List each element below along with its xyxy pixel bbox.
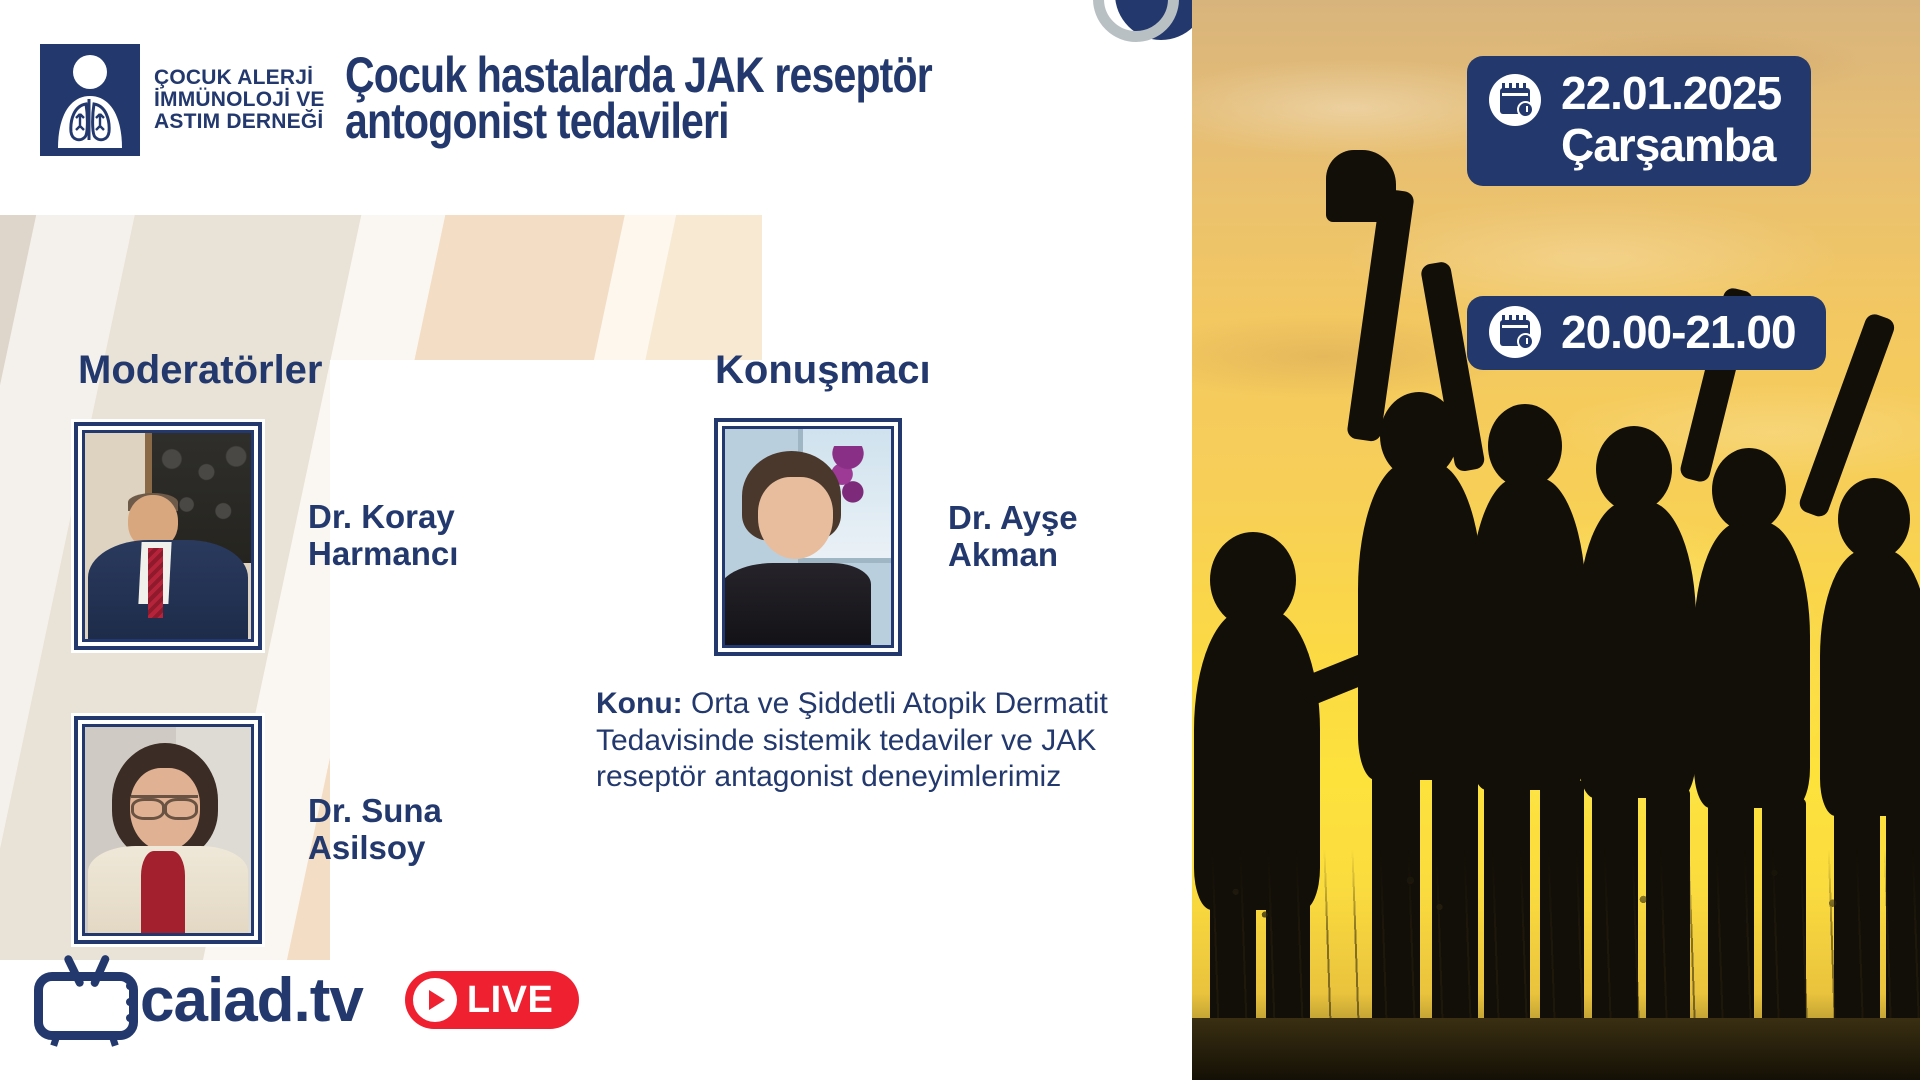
- foreground-weeds: [1192, 850, 1920, 1040]
- live-badge[interactable]: LIVE: [405, 971, 579, 1029]
- webinar-poster: ÇOCUK ALERJİ İMMÜNOLOJİ VE ASTIM DERNEĞİ…: [0, 0, 1920, 1080]
- org-line-2: İMMÜNOLOJİ VE: [154, 89, 325, 111]
- ground-silhouette: [1192, 1018, 1920, 1080]
- org-line-3: ASTIM DERNEĞİ: [154, 111, 325, 133]
- topic-text: Konu: Orta ve Şiddetli Atopik Dermatit T…: [596, 686, 1196, 796]
- name-line-1: Dr. Koray: [308, 499, 458, 536]
- title-line-1: Çocuk hastalarda JAK reseptör: [345, 52, 1026, 98]
- organization-name: ÇOCUK ALERJİ İMMÜNOLOJİ VE ASTIM DERNEĞİ: [154, 67, 325, 133]
- time-badge: 20.00-21.00: [1467, 296, 1826, 370]
- speaker-heading: Konuşmacı: [715, 348, 931, 393]
- live-label: LIVE: [467, 979, 553, 1022]
- moderator-name: Dr. Suna Asilsoy: [308, 793, 442, 867]
- television-icon: [34, 954, 146, 1046]
- portrait-suna-asilsoy: [82, 724, 254, 936]
- event-date: 22.01.2025: [1561, 70, 1781, 116]
- speaker-name: Dr. Ayşe Akman: [948, 500, 1078, 574]
- name-line-2: Harmancı: [308, 536, 458, 573]
- organization-logo: ÇOCUK ALERJİ İMMÜNOLOJİ VE ASTIM DERNEĞİ: [40, 44, 325, 156]
- topic-label: Konu:: [596, 687, 683, 720]
- site-name[interactable]: caiad.tv: [140, 965, 363, 1036]
- moderator-card: Dr. Koray Harmancı: [74, 422, 458, 650]
- photo-frame: [74, 716, 262, 944]
- calendar-clock-icon: [1489, 74, 1541, 126]
- title-line-2: antogonist tedavileri: [345, 98, 1026, 144]
- moderators-heading: Moderatörler: [78, 348, 323, 393]
- photo-frame: [714, 418, 902, 656]
- portrait-ayse-akman: [722, 426, 894, 648]
- moderator-card: Dr. Suna Asilsoy: [74, 716, 442, 944]
- sunset-photo-panel: 22.01.2025 Çarşamba 20.00-21.00: [1192, 0, 1920, 1080]
- moderator-name: Dr. Koray Harmancı: [308, 499, 458, 573]
- footer-brand: caiad.tv LIVE: [34, 954, 579, 1046]
- date-badge: 22.01.2025 Çarşamba: [1467, 56, 1811, 186]
- name-line-2: Akman: [948, 537, 1078, 574]
- event-weekday: Çarşamba: [1561, 122, 1781, 168]
- calendar-clock-icon: [1489, 306, 1541, 358]
- portrait-koray-harmanci: [82, 430, 254, 642]
- name-line-2: Asilsoy: [308, 830, 442, 867]
- play-circle-icon: [413, 978, 457, 1022]
- name-line-1: Dr. Ayşe: [948, 500, 1078, 537]
- name-line-1: Dr. Suna: [308, 793, 442, 830]
- photo-frame: [74, 422, 262, 650]
- lungs-person-icon: [40, 44, 140, 156]
- page-title: Çocuk hastalarda JAK reseptör antogonist…: [345, 52, 1026, 144]
- event-time: 20.00-21.00: [1561, 309, 1796, 355]
- org-line-1: ÇOCUK ALERJİ: [154, 67, 325, 89]
- speaker-card: Dr. Ayşe Akman: [714, 418, 1078, 656]
